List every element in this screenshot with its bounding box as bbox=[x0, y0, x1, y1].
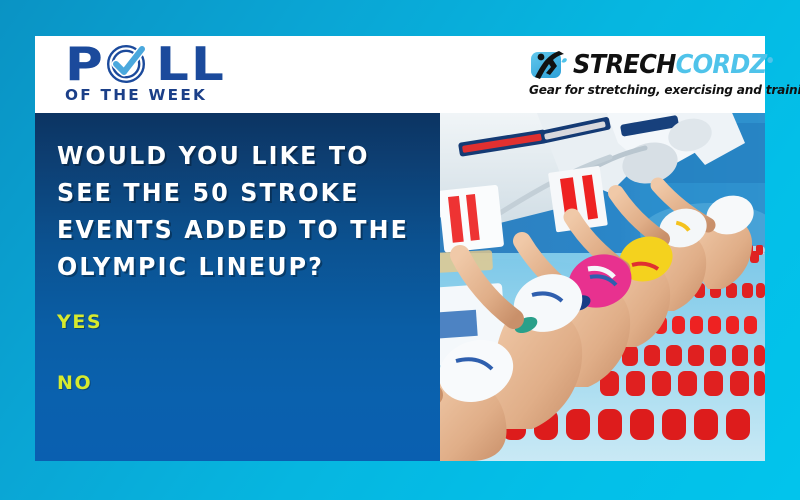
strechcordz-name-part1: STRECH bbox=[573, 50, 676, 80]
strechcordz-logo[interactable]: STRECHCORDZ Gear for stretching, exercis… bbox=[529, 48, 739, 103]
registered-dot-icon bbox=[767, 57, 773, 63]
strechcordz-top-row: STRECHCORDZ bbox=[529, 48, 739, 81]
strechcordz-tagline: Gear for stretching, exercising and trai… bbox=[529, 82, 733, 97]
poll-of-the-week-logo: P L L OF THE WEEK bbox=[65, 44, 225, 106]
checkmark-circle-icon bbox=[107, 44, 147, 84]
question-panel: WOULD YOU LIKE TO SEE THE 50 STROKE EVEN… bbox=[35, 113, 440, 461]
poll-wordmark: P L L bbox=[65, 44, 225, 84]
strechcordz-wordmark: STRECHCORDZ bbox=[573, 50, 773, 80]
photo-illustration bbox=[440, 113, 765, 461]
poll-question: WOULD YOU LIKE TO SEE THE 50 STROKE EVEN… bbox=[57, 137, 411, 285]
poll-body: WOULD YOU LIKE TO SEE THE 50 STROKE EVEN… bbox=[35, 113, 765, 461]
poll-options: YES NO bbox=[57, 311, 422, 394]
poll-letter-l-2: L bbox=[191, 44, 223, 84]
header-bar: P L L OF THE WEEK bbox=[35, 36, 765, 113]
poll-option-no[interactable]: NO bbox=[57, 372, 92, 394]
poll-letter-l-1: L bbox=[156, 44, 188, 84]
poll-card: P L L OF THE WEEK bbox=[35, 36, 765, 461]
strechcordz-name-part2: CORDZ bbox=[676, 50, 767, 80]
swimmers-starting-blocks-photo bbox=[440, 113, 765, 461]
poll-logo-subtitle: OF THE WEEK bbox=[65, 86, 228, 104]
poll-option-yes[interactable]: YES bbox=[57, 311, 102, 333]
poll-letter-p: P bbox=[65, 44, 102, 84]
stretching-figure-icon bbox=[529, 50, 569, 80]
